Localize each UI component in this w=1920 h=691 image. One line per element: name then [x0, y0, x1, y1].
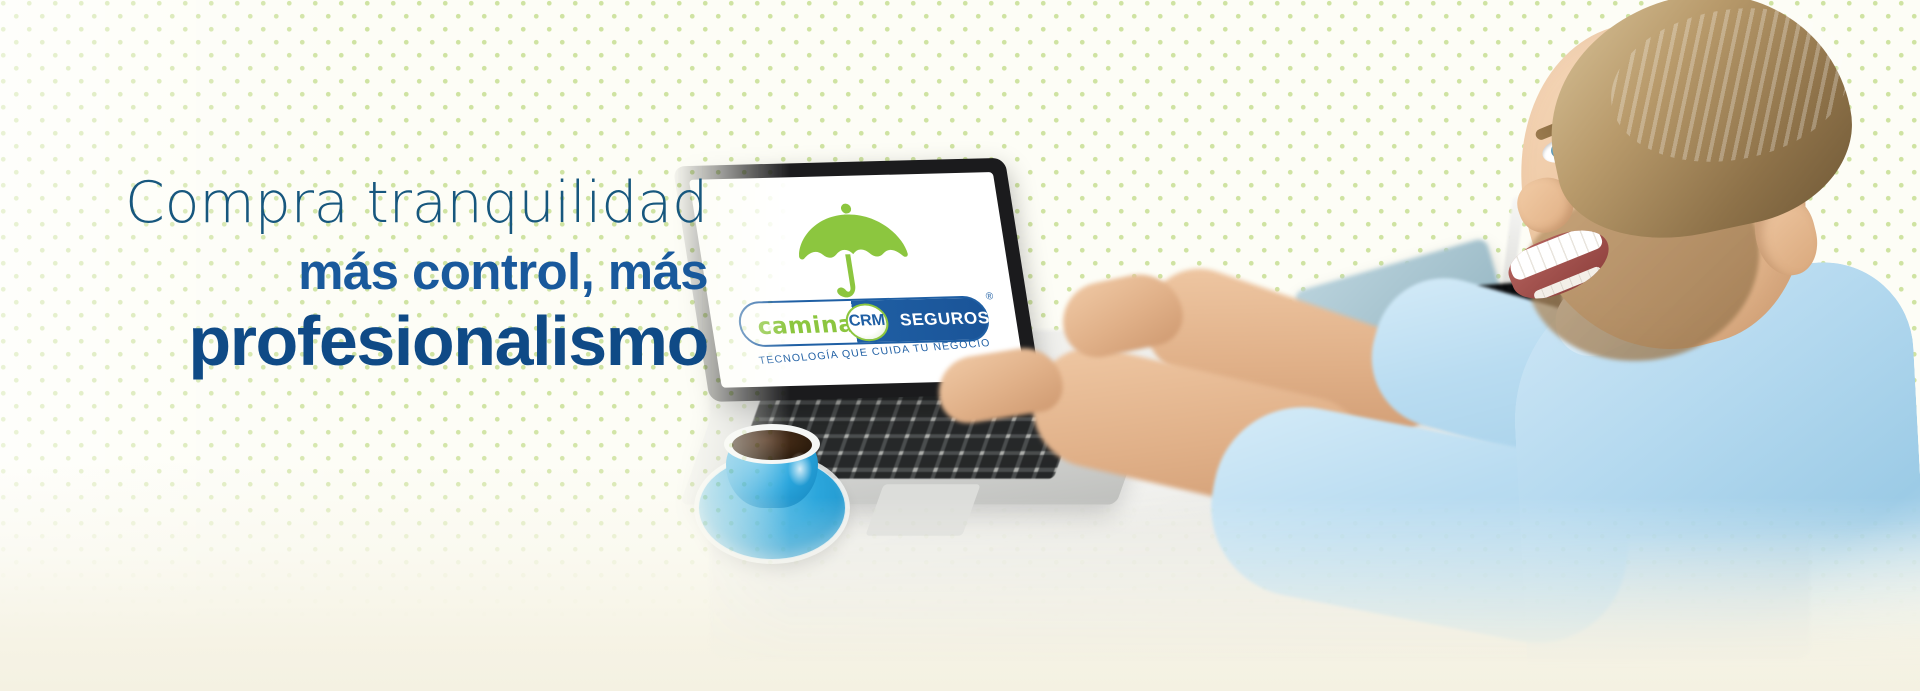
laptop-trackpad — [865, 484, 980, 535]
registered-trademark-icon: ® — [985, 291, 994, 302]
headline-line-3: profesionalismo — [0, 302, 708, 380]
hero-photo: camina CRM SEGUROS ® TECNOLOGÍA QUE CUID… — [670, 0, 1920, 691]
coffee-cup-highlight — [788, 452, 812, 486]
logo-crm-text: CRM — [847, 312, 886, 331]
hero-banner: camina CRM SEGUROS ® TECNOLOGÍA QUE CUID… — [0, 0, 1920, 691]
photo-fade-mask: camina CRM SEGUROS ® TECNOLOGÍA QUE CUID… — [670, 0, 1920, 691]
headline-block: Compra tranquilidad más control, más pro… — [0, 172, 708, 380]
logo-brand-name: camina — [756, 312, 857, 340]
headline-line-2: más control, más — [0, 240, 708, 304]
camina-crm-seguros-logo: camina CRM SEGUROS ® TECNOLOGÍA QUE CUID… — [713, 192, 1001, 367]
headline-line-1: Compra tranquilidad — [0, 172, 708, 234]
logo-product-name: SEGUROS — [899, 308, 992, 330]
umbrella-icon — [786, 200, 921, 306]
